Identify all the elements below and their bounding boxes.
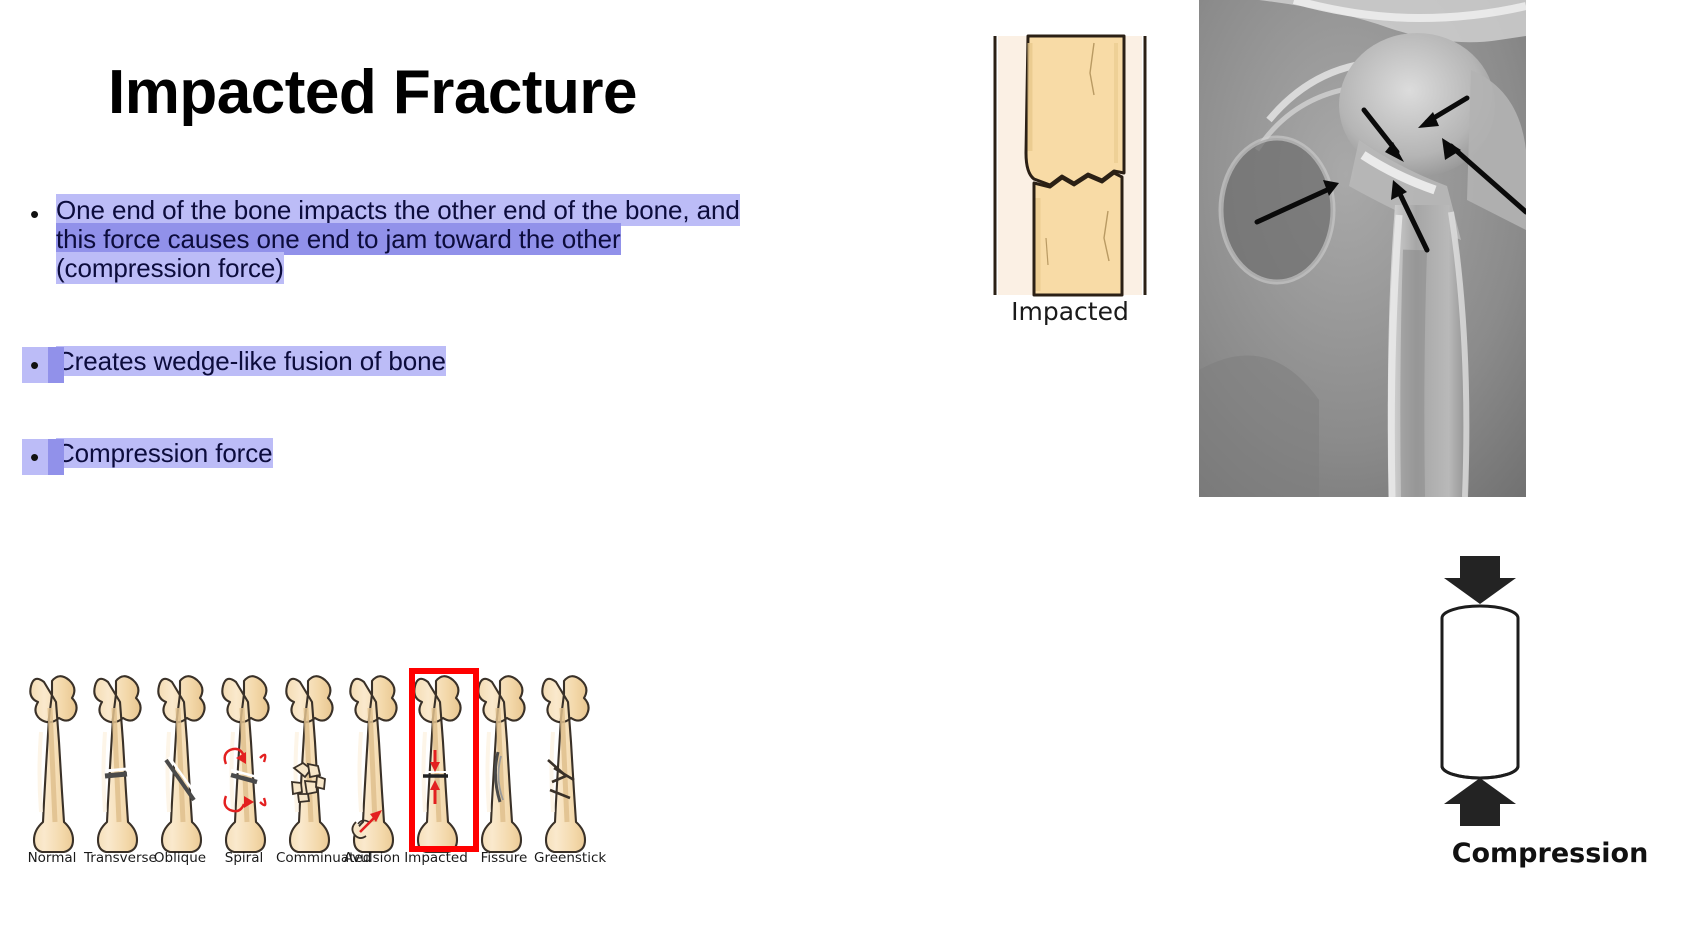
fracture-label: Transverse [84, 850, 148, 866]
selection-strip [48, 439, 64, 475]
list-item[interactable]: • One end of the bone impacts the other … [22, 196, 952, 283]
bullet-line: this force causes one end to jam toward … [56, 223, 621, 255]
fracture-label: Normal [20, 850, 84, 866]
fracture-item-avulsion[interactable]: Avulsion [340, 666, 404, 866]
xray-image [1199, 0, 1526, 497]
fracture-label: Spiral [212, 850, 276, 866]
fracture-label: Impacted [404, 850, 468, 866]
bullet-line: One end of the bone impacts the other en… [56, 194, 740, 226]
bullet-line: Creates wedge-like fusion of bone [56, 346, 446, 376]
fracture-item-fissure[interactable]: Fissure [472, 666, 536, 866]
list-item[interactable]: • Creates wedge-like fusion of bone [22, 347, 952, 383]
arrow-up-icon [1444, 778, 1516, 826]
impacted-diagram-caption: Impacted [990, 297, 1150, 326]
fracture-types-strip: Normal Transverse Oblique Spiral Comminu… [24, 666, 614, 866]
compression-diagram [1420, 556, 1540, 826]
fracture-item-comminuated[interactable]: Comminuated [276, 666, 340, 866]
fracture-item-transverse[interactable]: Transverse [84, 666, 148, 866]
arrow-down-icon [1444, 556, 1516, 604]
bullet-text-3: Compression force [56, 439, 273, 468]
bullet-line: (compression force) [56, 252, 284, 284]
bullet-text-2: Creates wedge-like fusion of bone [56, 347, 446, 376]
fracture-item-normal[interactable]: Normal [20, 666, 84, 866]
compression-diagram-caption: Compression [1405, 838, 1694, 869]
list-item[interactable]: • Compression force [22, 439, 952, 475]
impacted-bone-diagram [990, 33, 1150, 333]
bullet-marker: • [22, 196, 56, 232]
impacted-highlight-box [409, 668, 479, 852]
page-title: Impacted Fracture [108, 60, 637, 125]
cylinder-shape [1442, 606, 1518, 778]
fracture-label: Fissure [472, 850, 536, 866]
fracture-item-greenstick[interactable]: Greenstick [534, 666, 598, 866]
bullet-list: • One end of the bone impacts the other … [22, 196, 952, 475]
fracture-label: Greenstick [534, 850, 598, 866]
selection-strip [48, 347, 64, 383]
fracture-label: Oblique [148, 850, 212, 866]
fracture-item-spiral[interactable]: Spiral [212, 666, 276, 866]
slide-canvas: Impacted Fracture • One end of the bone … [0, 0, 1694, 944]
bullet-line: Compression force [56, 438, 273, 468]
fracture-label: Avulsion [340, 850, 404, 866]
bullet-text-1: One end of the bone impacts the other en… [56, 196, 740, 283]
fracture-item-oblique[interactable]: Oblique [148, 666, 212, 866]
fracture-label: Comminuated [276, 850, 340, 866]
